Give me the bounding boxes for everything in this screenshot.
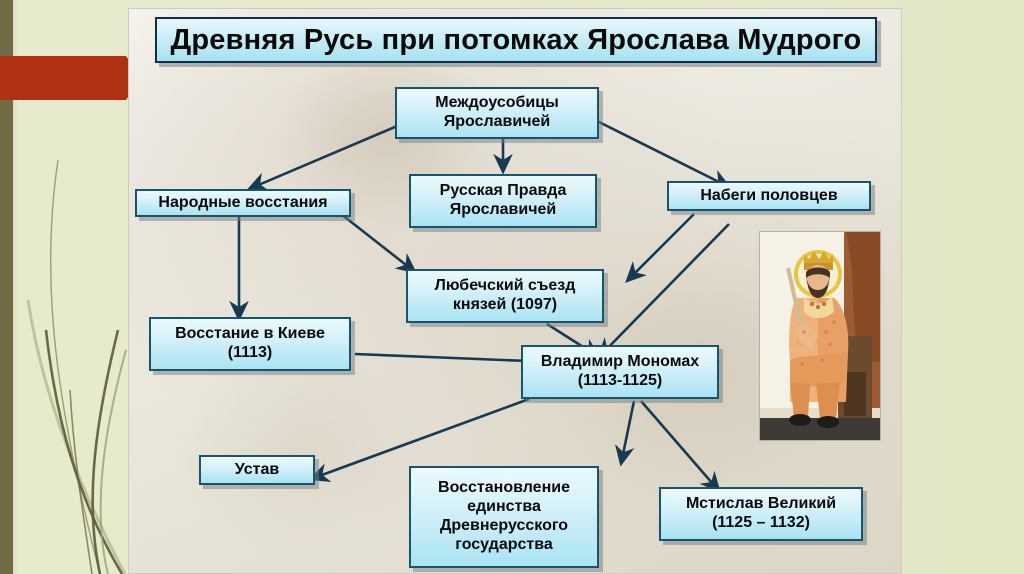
node-line-1: Любечский съезд: [435, 277, 576, 294]
node-line-2: (1113-1125): [578, 372, 663, 389]
node-text: Восстание в Киеве (1113): [175, 325, 325, 363]
node-vosstanie-v-kieve[interactable]: Восстание в Киеве (1113): [149, 317, 351, 371]
node-line-1: Русская Правда: [440, 182, 567, 199]
node-line-3: Древнерусского: [440, 517, 568, 534]
node-line-2: (1125 – 1132): [712, 514, 810, 531]
node-text: Устав: [235, 461, 279, 480]
node-line-2: (1113): [228, 344, 272, 361]
node-text: Восстановление единства Древнерусского г…: [438, 479, 570, 555]
seated-prince-icon: [759, 231, 881, 441]
node-text: Любечский съезд князей (1097): [435, 277, 576, 315]
node-line-1: Восстановление: [438, 479, 570, 496]
node-line-1: Междоусобицы: [435, 94, 558, 111]
node-text: Междоусобицы Ярославичей: [435, 94, 558, 132]
node-vosstanovlenie-edinstva[interactable]: Восстановление единства Древнерусского г…: [409, 466, 599, 568]
node-line-1: Восстание в Киеве: [175, 325, 325, 342]
node-lyubechskiy-sezd[interactable]: Любечский съезд князей (1097): [406, 269, 604, 323]
red-arrow-banner: [0, 56, 143, 100]
node-mstislav-velikiy[interactable]: Мстислав Великий (1125 – 1132): [659, 487, 863, 541]
node-narodnye-vosstaniya[interactable]: Народные восстания: [135, 189, 351, 217]
node-text: Русская Правда Ярославичей: [440, 182, 567, 220]
node-nabegi-polovcev[interactable]: Набеги половцев: [667, 181, 871, 211]
node-mezhdousobicy[interactable]: Междоусобицы Ярославичей: [395, 87, 599, 139]
node-line-2: князей (1097): [453, 296, 557, 313]
node-line-2: единства: [467, 498, 541, 515]
node-line-2: Ярославичей: [450, 201, 557, 218]
node-text: Набеги половцев: [700, 187, 837, 206]
node-line-1: Мстислав Великий: [686, 495, 836, 512]
node-text: Владимир Мономах (1113-1125): [541, 353, 699, 391]
node-line-2: Ярославичей: [444, 113, 551, 130]
node-russkaya-pravda[interactable]: Русская Правда Ярославичей: [409, 174, 597, 228]
node-vladimir-monomah[interactable]: Владимир Мономах (1113-1125): [521, 345, 719, 399]
node-text: Мстислав Великий (1125 – 1132): [686, 495, 836, 533]
node-text: Народные восстания: [158, 194, 327, 213]
node-line-1: Владимир Мономах: [541, 353, 699, 370]
node-line-4: государства: [455, 536, 553, 553]
content-panel: Древняя Русь при потомках Ярослава Мудро…: [128, 8, 902, 574]
node-ustav[interactable]: Устав: [199, 455, 315, 485]
